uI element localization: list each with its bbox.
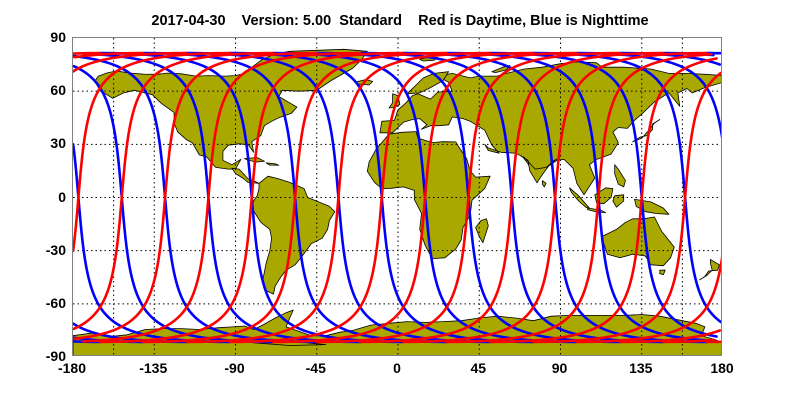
x-tick--90: -90 <box>224 360 244 376</box>
y-tick-0: 0 <box>18 189 66 205</box>
y-tick-30: 30 <box>18 135 66 151</box>
x-tick--45: -45 <box>306 360 326 376</box>
y-tick--60: -60 <box>18 295 66 311</box>
map-and-tracks-svg <box>73 38 722 356</box>
daytime-track-orbit-4 <box>73 53 100 54</box>
y-tick-60: 60 <box>18 82 66 98</box>
y-tick-90: 90 <box>18 29 66 45</box>
x-tick-90: 90 <box>552 360 568 376</box>
page-title: 2017-04-30 Version: 5.00 Standard Red is… <box>0 13 800 29</box>
plot-area <box>72 37 722 356</box>
satellite-ground-track-figure: 2017-04-30 Version: 5.00 Standard Red is… <box>0 0 800 400</box>
x-tick--180: -180 <box>58 360 86 376</box>
x-tick-135: 135 <box>629 360 652 376</box>
x-tick--135: -135 <box>139 360 167 376</box>
x-tick-0: 0 <box>393 360 401 376</box>
x-tick-45: 45 <box>470 360 486 376</box>
y-tick--30: -30 <box>18 242 66 258</box>
x-tick-180: 180 <box>710 360 733 376</box>
